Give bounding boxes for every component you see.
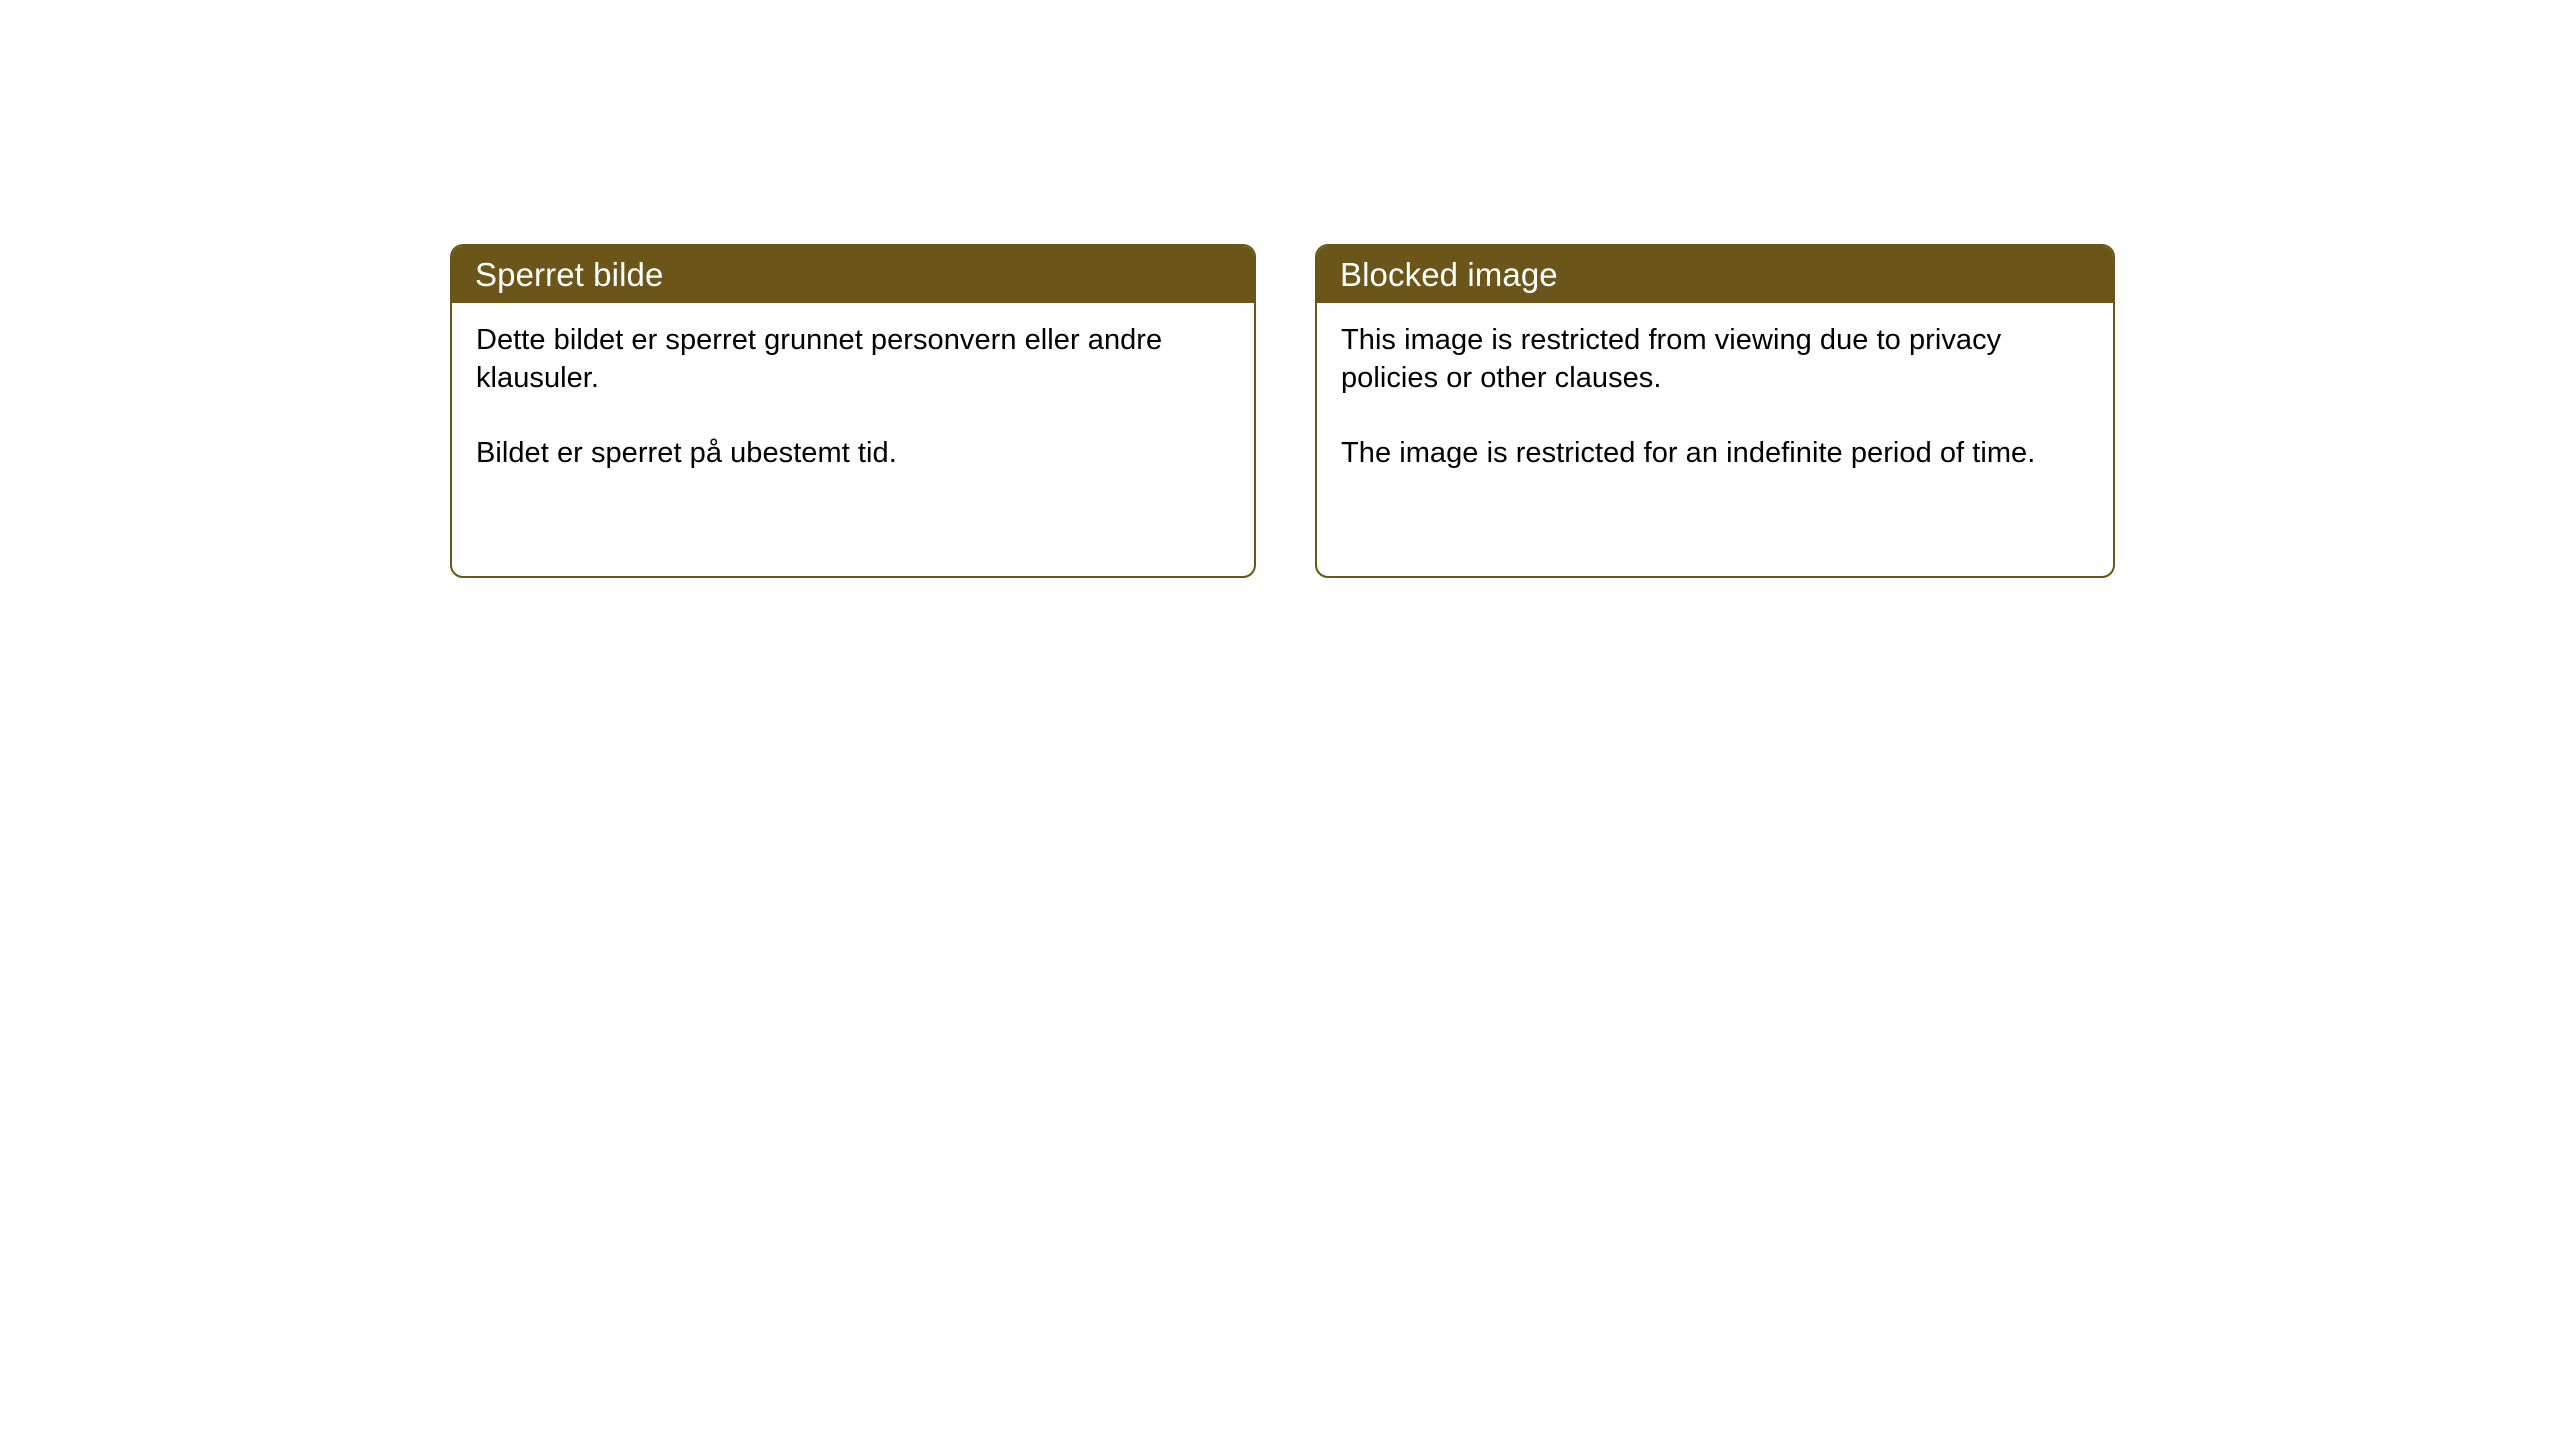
card-header-english: Blocked image — [1317, 246, 2113, 303]
card-paragraph-reason-norwegian: Dette bildet er sperret grunnet personve… — [476, 321, 1228, 398]
blocked-image-notice-card-norwegian: Sperret bilde Dette bildet er sperret gr… — [450, 244, 1256, 578]
page-root: Sperret bilde Dette bildet er sperret gr… — [0, 0, 2560, 1440]
card-header-norwegian: Sperret bilde — [452, 246, 1254, 303]
card-body-norwegian: Dette bildet er sperret grunnet personve… — [452, 303, 1254, 472]
card-body-english: This image is restricted from viewing du… — [1317, 303, 2113, 472]
card-title-norwegian: Sperret bilde — [475, 258, 663, 291]
blocked-image-notice-card-english: Blocked image This image is restricted f… — [1315, 244, 2115, 578]
card-paragraph-reason-english: This image is restricted from viewing du… — [1341, 321, 2087, 398]
card-title-english: Blocked image — [1340, 258, 1558, 291]
card-paragraph-duration-norwegian: Bildet er sperret på ubestemt tid. — [476, 434, 1228, 472]
card-paragraph-duration-english: The image is restricted for an indefinit… — [1341, 434, 2087, 472]
